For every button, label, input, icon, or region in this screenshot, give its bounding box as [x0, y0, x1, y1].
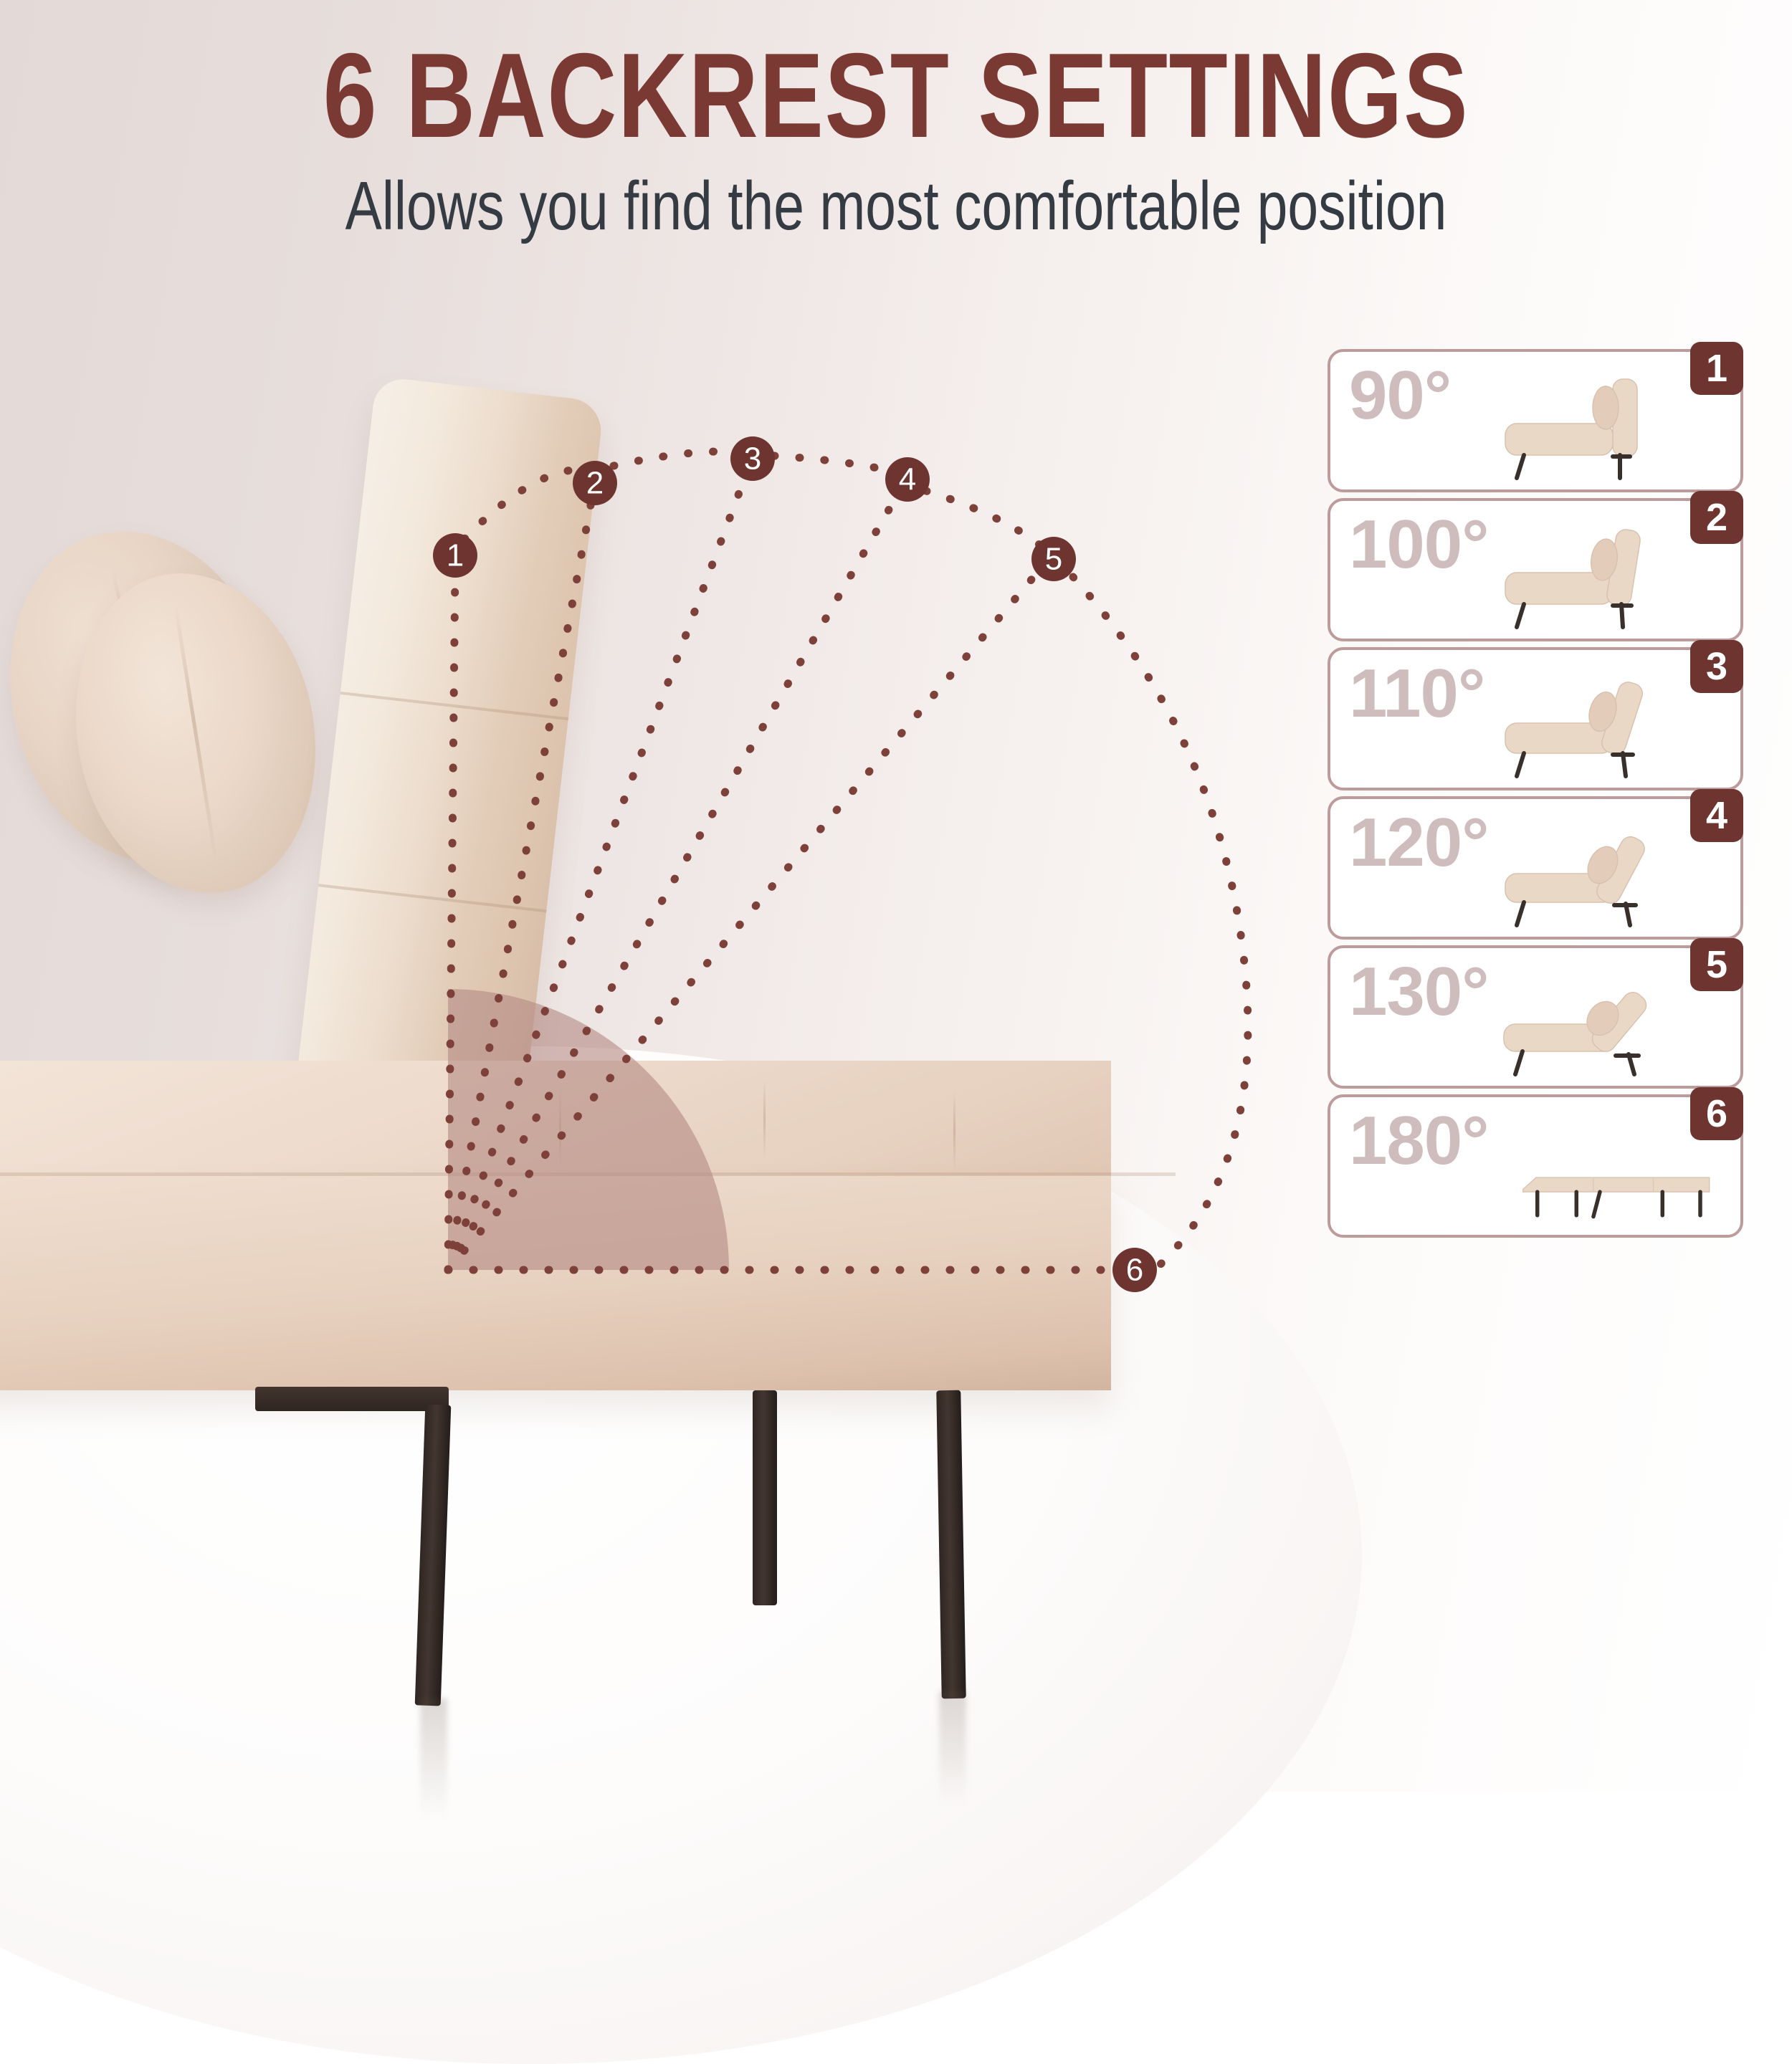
- angle-card-6[interactable]: 180° 6: [1328, 1094, 1743, 1238]
- sofa-thumbnail-100: [1479, 504, 1716, 631]
- marker-6-label: 6: [1126, 1253, 1143, 1288]
- marker-1-label: 1: [447, 538, 464, 573]
- marker-5-label: 5: [1045, 542, 1062, 577]
- angle-value-4: 120°: [1349, 803, 1489, 882]
- marker-2-label: 2: [586, 466, 604, 501]
- arc-segment-3-4: [774, 456, 887, 470]
- card-badge-2: 2: [1690, 491, 1743, 544]
- arc-segment-4-5: [926, 491, 1039, 545]
- angle-card-4[interactable]: 120° 4: [1328, 796, 1743, 940]
- card-badge-5: 5: [1690, 938, 1743, 991]
- sofa-thumbnail-130: [1479, 951, 1716, 1079]
- angle-value-3: 110°: [1349, 654, 1484, 733]
- angle-card-5[interactable]: 130° 5: [1328, 945, 1743, 1089]
- card-badge-3: 3: [1690, 640, 1743, 693]
- angle-card-1[interactable]: 90° 1: [1328, 349, 1743, 492]
- marker-2[interactable]: 2: [573, 461, 617, 505]
- marker-1[interactable]: 1: [433, 533, 477, 578]
- angle-value-6: 180°: [1349, 1102, 1489, 1180]
- arc-segment-2-3: [614, 451, 733, 466]
- angle-card-list: 90° 1 100° 2: [1328, 349, 1743, 1243]
- sofa-thumbnail-110: [1479, 653, 1716, 780]
- arc-segment-1-2: [464, 469, 578, 539]
- marker-4[interactable]: 4: [885, 457, 930, 502]
- angle-value-1: 90°: [1349, 356, 1451, 435]
- marker-4-label: 4: [899, 462, 916, 497]
- card-badge-6: 6: [1690, 1087, 1743, 1140]
- angle-card-3[interactable]: 110° 3: [1328, 647, 1743, 790]
- sofa-thumbnail-90: [1479, 355, 1716, 482]
- angle-value-5: 130°: [1349, 952, 1489, 1031]
- arc-segment-5-6: [1073, 577, 1248, 1265]
- marker-5[interactable]: 5: [1031, 537, 1076, 581]
- angle-value-2: 100°: [1349, 505, 1489, 584]
- angle-card-2[interactable]: 100° 2: [1328, 498, 1743, 641]
- recline-sweep-wedge: [430, 975, 745, 1283]
- marker-3-label: 3: [744, 441, 761, 477]
- marker-6[interactable]: 6: [1112, 1248, 1157, 1292]
- infographic-canvas: 6 BACKREST SETTINGS Allows you find the …: [0, 0, 1792, 1792]
- sofa-thumbnail-120: [1479, 802, 1716, 930]
- card-badge-4: 4: [1690, 789, 1743, 842]
- marker-3[interactable]: 3: [730, 436, 775, 481]
- card-badge-1: 1: [1690, 342, 1743, 395]
